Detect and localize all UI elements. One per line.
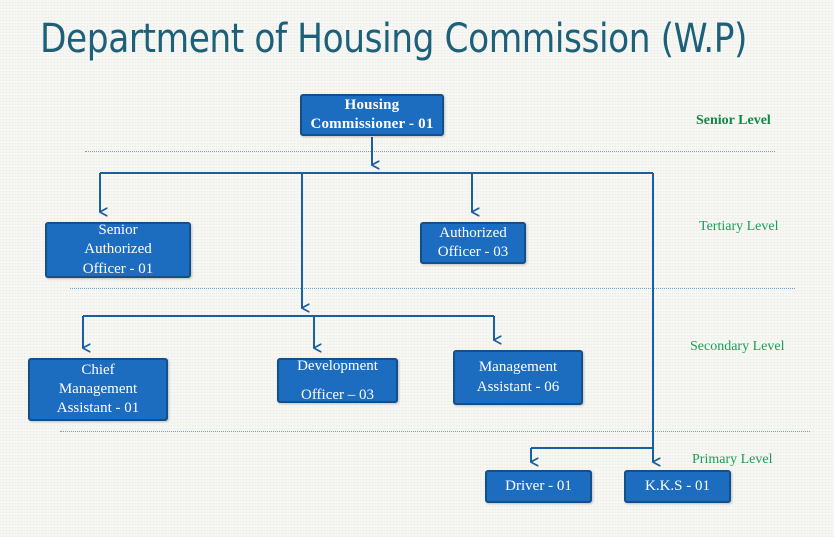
- node-development-officer-line2: Officer – 03: [301, 381, 374, 410]
- node-driver-line1: Driver - 01: [505, 477, 572, 496]
- level-label-tertiary: Tertiary Level: [699, 219, 778, 235]
- node-senior-authorized-officer-line3: Officer - 01: [83, 260, 154, 279]
- level-label-secondary: Secondary Level: [690, 339, 784, 355]
- node-senior-authorized-officer-line2: Authorized: [84, 240, 151, 259]
- node-authorized-officer[interactable]: Authorized Officer - 03: [420, 222, 526, 264]
- level-label-primary: Primary Level: [692, 452, 772, 468]
- node-development-officer[interactable]: Development Officer – 03: [277, 358, 398, 403]
- node-housing-commissioner[interactable]: Housing Commissioner - 01: [300, 94, 444, 136]
- node-authorized-officer-line2: Officer - 03: [438, 243, 509, 262]
- org-chart-canvas: Department of Housing Commission (W.P): [0, 0, 834, 537]
- node-management-assistant[interactable]: Management Assistant - 06: [453, 350, 583, 405]
- node-management-assistant-line2: Assistant - 06: [477, 378, 560, 397]
- node-chief-management-assistant[interactable]: Chief Management Assistant - 01: [28, 358, 168, 421]
- node-chief-management-assistant-line2: Management: [59, 380, 137, 399]
- node-kks-line1: K.K.S - 01: [645, 477, 710, 496]
- node-housing-commissioner-line2: Commissioner - 01: [310, 115, 433, 134]
- node-driver[interactable]: Driver - 01: [485, 470, 592, 503]
- node-housing-commissioner-line1: Housing: [345, 96, 400, 115]
- node-development-officer-line1: Development: [297, 352, 378, 381]
- node-authorized-officer-line1: Authorized: [439, 224, 506, 243]
- node-senior-authorized-officer[interactable]: Senior Authorized Officer - 01: [45, 222, 191, 278]
- node-chief-management-assistant-line1: Chief: [81, 361, 114, 380]
- node-management-assistant-line1: Management: [479, 358, 557, 377]
- node-senior-authorized-officer-line1: Senior: [98, 221, 137, 240]
- node-chief-management-assistant-line3: Assistant - 01: [57, 399, 140, 418]
- node-kks[interactable]: K.K.S - 01: [624, 470, 731, 503]
- level-label-senior: Senior Level: [696, 113, 771, 129]
